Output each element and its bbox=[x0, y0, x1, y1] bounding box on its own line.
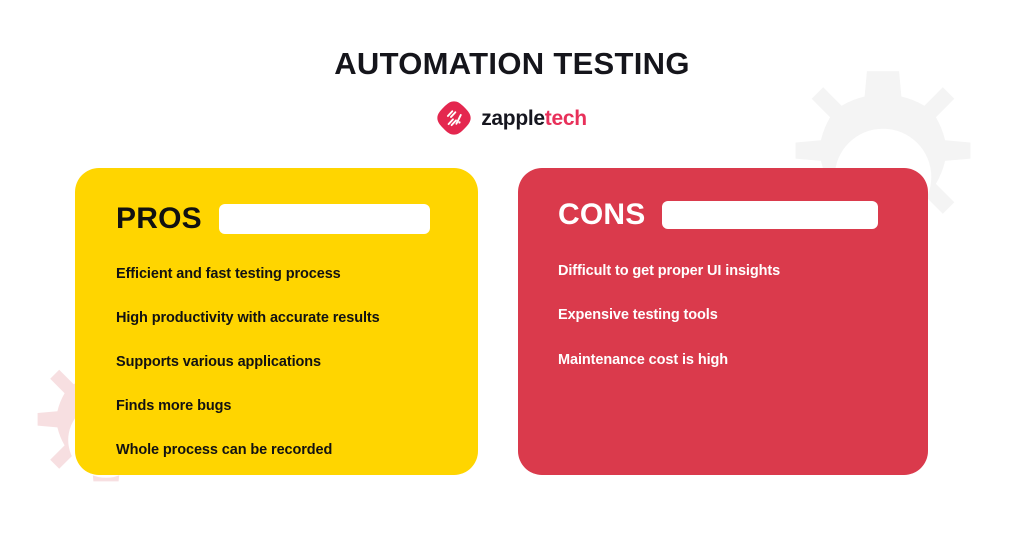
pros-card-title: PROS bbox=[116, 204, 202, 234]
list-item: Finds more bugs bbox=[116, 398, 454, 415]
brand-logo: zappletech bbox=[0, 101, 1024, 135]
cons-card: CONS Difficult to get proper UI insights… bbox=[518, 168, 928, 475]
list-item: High productivity with accurate results bbox=[116, 310, 454, 327]
pros-card-header: PROS bbox=[116, 204, 430, 234]
cons-header-bar bbox=[662, 201, 878, 229]
list-item: Whole process can be recorded bbox=[116, 442, 454, 459]
list-item: Efficient and fast testing process bbox=[116, 266, 454, 283]
page-title: AUTOMATION TESTING bbox=[0, 46, 1024, 82]
cons-card-title: CONS bbox=[558, 200, 645, 230]
cons-card-header: CONS bbox=[558, 200, 878, 230]
list-item: Maintenance cost is high bbox=[558, 352, 904, 369]
brand-name-primary: zapple bbox=[481, 107, 545, 130]
cons-list: Difficult to get proper UI insights Expe… bbox=[558, 263, 904, 396]
list-item: Expensive testing tools bbox=[558, 307, 904, 324]
list-item: Supports various applications bbox=[116, 354, 454, 371]
brand-name-accent: tech bbox=[545, 107, 587, 130]
zappletech-logo-icon bbox=[437, 101, 471, 135]
brand-wordmark: zappletech bbox=[481, 108, 587, 129]
pros-header-bar bbox=[219, 204, 430, 234]
pros-list: Efficient and fast testing process High … bbox=[116, 266, 454, 485]
list-item: Difficult to get proper UI insights bbox=[558, 263, 904, 280]
pros-card: PROS Efficient and fast testing process … bbox=[75, 168, 478, 475]
